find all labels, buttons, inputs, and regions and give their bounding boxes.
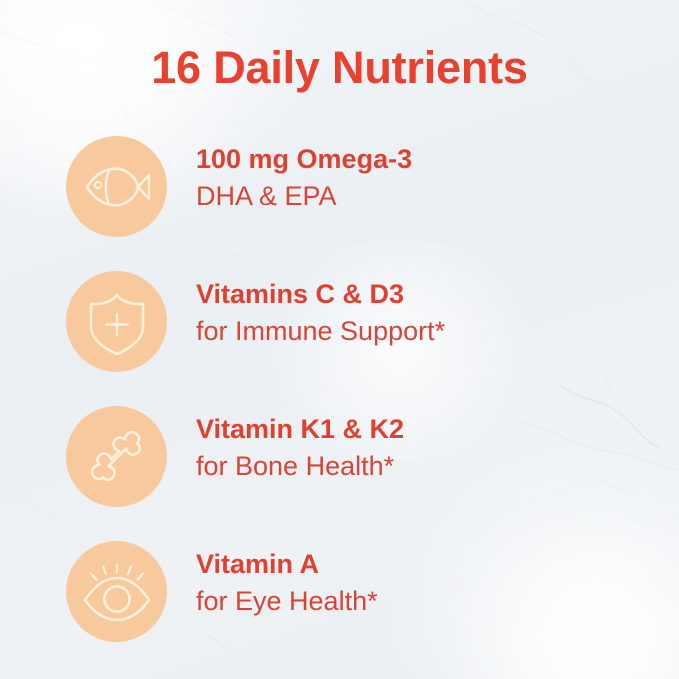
bone-icon [81,421,153,493]
row-text: 100 mg Omega-3 DHA & EPA [196,141,412,215]
fish-icon-badge [66,136,167,237]
nutrient-primary-label: Vitamin K1 & K2 [196,411,404,448]
nutrient-list: 100 mg Omega-3 DHA & EPA Vitamins C & D3… [0,133,679,673]
shield-plus-icon-badge [66,271,167,372]
nutrient-infographic: 16 Daily Nutrients 100 mg Omega-3 DHA & … [0,0,679,679]
nutrient-secondary-label: DHA & EPA [196,178,412,215]
row-text: Vitamins C & D3 for Immune Support* [196,276,445,350]
nutrient-primary-label: Vitamins C & D3 [196,276,445,313]
nutrient-primary-label: Vitamin A [196,546,378,583]
list-item: 100 mg Omega-3 DHA & EPA [0,133,679,268]
shield-plus-icon [81,286,153,358]
bone-icon-badge [66,406,167,507]
list-item: Vitamins C & D3 for Immune Support* [0,268,679,403]
nutrient-secondary-label: for Bone Health* [196,448,404,485]
nutrient-primary-label: 100 mg Omega-3 [196,141,412,178]
eye-icon [81,556,153,628]
page-title: 16 Daily Nutrients [0,42,679,94]
eye-icon-badge [66,541,167,642]
list-item: Vitamin K1 & K2 for Bone Health* [0,403,679,538]
nutrient-secondary-label: for Eye Health* [196,583,378,620]
row-text: Vitamin K1 & K2 for Bone Health* [196,411,404,485]
list-item: Vitamin A for Eye Health* [0,538,679,673]
fish-icon [81,151,153,223]
row-text: Vitamin A for Eye Health* [196,546,378,620]
nutrient-secondary-label: for Immune Support* [196,313,445,350]
